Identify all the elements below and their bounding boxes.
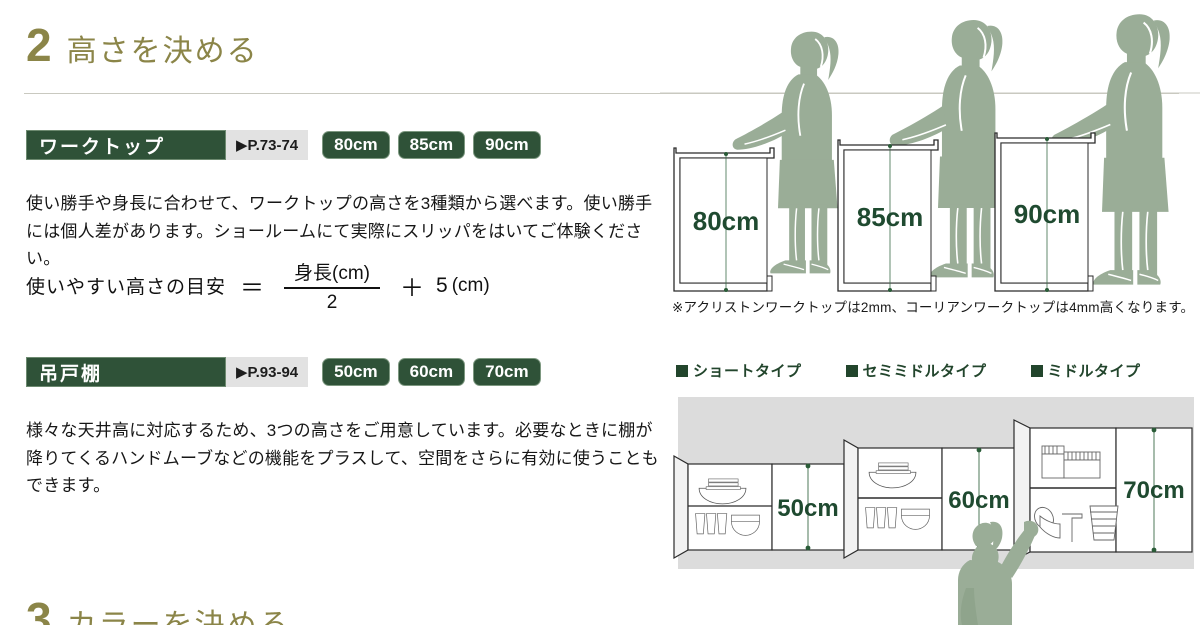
worktop-chip-group: 80cm 85cm 90cm xyxy=(322,130,540,160)
wall-cabinet-label: 吊戸棚 xyxy=(26,357,226,387)
wall-cabinet-body-text: 様々な天井高に対応するため、3つの高さをご用意しています。必要なときに棚が降りて… xyxy=(26,417,666,500)
wall-cabinet-chip-group: 50cm 60cm 70cm xyxy=(322,357,540,387)
catalog-page: 2 高さを決める ワークトップ ▶P.73-74 80cm 85cm 90cm … xyxy=(0,0,1200,625)
chip-worktop-85[interactable]: 85cm xyxy=(398,131,465,159)
right-column: 80cm 85cm xyxy=(660,0,1200,625)
worktop-note: ※アクリストンワークトップは2mm、コーリアンワークトップは4mm高くなります。 xyxy=(672,296,1200,316)
counter-85: 85cm xyxy=(838,140,938,292)
legend-item-short: ショートタイプ xyxy=(676,360,802,381)
chip-cabinet-50[interactable]: 50cm xyxy=(322,358,389,386)
svg-text:90cm: 90cm xyxy=(1014,199,1081,229)
worktop-page-ref[interactable]: ▶P.73-74 xyxy=(226,130,308,160)
cabinet-50: 50cm xyxy=(674,456,844,558)
next-section-number: 3 xyxy=(26,596,51,625)
counter-90: 90cm xyxy=(995,133,1095,292)
svg-text:80cm: 80cm xyxy=(693,206,760,236)
formula-unit: (cm) xyxy=(452,275,490,297)
legend-item-semi-middle: セミミドルタイプ xyxy=(846,360,987,381)
svg-text:70cm: 70cm xyxy=(1123,477,1184,504)
worktop-label: ワークトップ xyxy=(26,130,226,160)
next-section-title: カラーを決める xyxy=(67,600,291,625)
formula-addend: 5 xyxy=(436,274,448,298)
svg-text:60cm: 60cm xyxy=(948,487,1009,514)
formula-equals: ＝ xyxy=(240,268,264,303)
chip-worktop-90[interactable]: 90cm xyxy=(473,131,540,159)
left-column: ワークトップ ▶P.73-74 80cm 85cm 90cm 使い勝手や身長に合… xyxy=(0,0,670,625)
cabinet-type-legend: ショートタイプ セミミドルタイプ ミドルタイプ xyxy=(676,360,1141,381)
wall-cabinet-illustration: 50cm 60cm xyxy=(660,388,1200,625)
legend-item-middle: ミドルタイプ xyxy=(1031,360,1141,381)
formula-fraction: 身長(cm) 2 xyxy=(284,258,380,314)
cabinet-70: 70cm xyxy=(1014,420,1192,560)
legend-label-short: ショートタイプ xyxy=(693,360,802,381)
square-icon xyxy=(846,365,858,377)
legend-label-semi-middle: セミミドルタイプ xyxy=(863,360,987,381)
wall-cabinet-page-ref[interactable]: ▶P.93-94 xyxy=(226,357,308,387)
formula-numerator: 身長(cm) xyxy=(284,258,380,287)
worktop-illustration: 80cm 85cm xyxy=(660,8,1200,293)
legend-label-middle: ミドルタイプ xyxy=(1048,360,1141,381)
wall-cabinet-header-row: 吊戸棚 ▶P.93-94 50cm 60cm 70cm xyxy=(26,357,541,387)
counter-80: 80cm xyxy=(674,148,774,292)
chip-cabinet-60[interactable]: 60cm xyxy=(398,358,465,386)
worktop-header-row: ワークトップ ▶P.73-74 80cm 85cm 90cm xyxy=(26,130,541,160)
square-icon xyxy=(1031,365,1043,377)
chip-worktop-80[interactable]: 80cm xyxy=(322,131,389,159)
svg-text:85cm: 85cm xyxy=(857,202,924,232)
svg-text:50cm: 50cm xyxy=(777,495,838,522)
formula-lead: 使いやすい高さの目安 xyxy=(26,272,226,299)
height-formula: 使いやすい高さの目安 ＝ 身長(cm) 2 ＋ 5 (cm) xyxy=(26,258,490,314)
formula-plus: ＋ xyxy=(400,268,424,303)
chip-cabinet-70[interactable]: 70cm xyxy=(473,358,540,386)
next-section-heading: 3 カラーを決める xyxy=(26,596,291,625)
square-icon xyxy=(676,365,688,377)
formula-denominator: 2 xyxy=(317,289,348,314)
